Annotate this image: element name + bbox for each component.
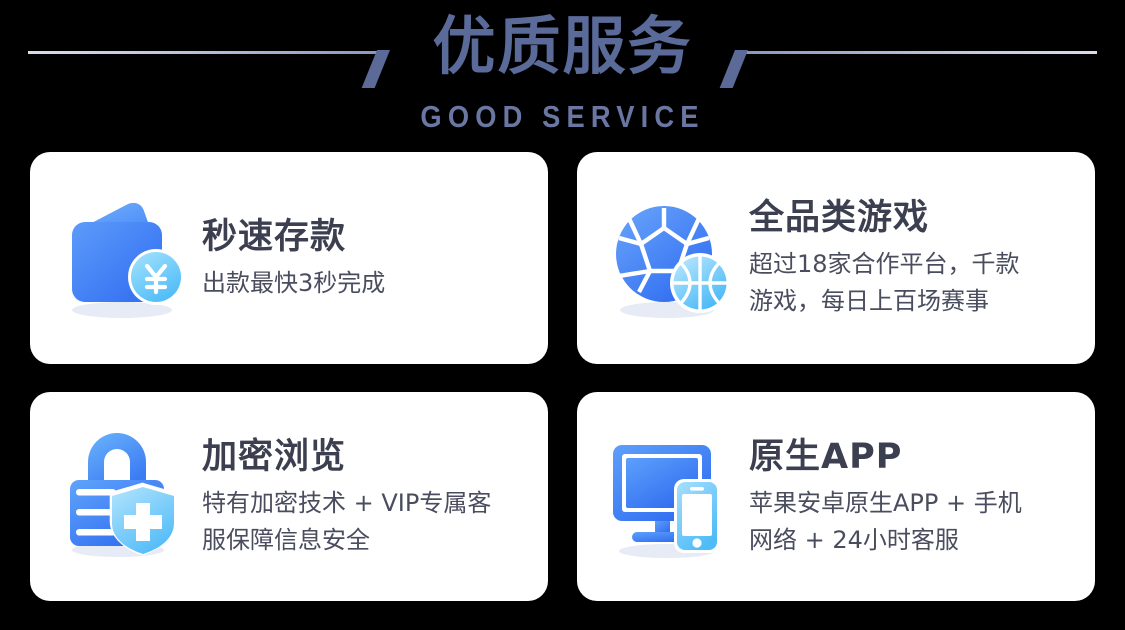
card-title: 原生APP — [749, 435, 1095, 479]
wallet-yuan-icon — [58, 192, 190, 324]
card-text-encryption: 加密浏览 特有加密技术 + VIP专属客 服保障信息安全 — [202, 435, 548, 559]
card-subtitle: 特有加密技术 + VIP专属客 服保障信息安全 — [202, 485, 548, 559]
card-subtitle: 苹果安卓原生APP + 手机 网络 + 24小时客服 — [749, 485, 1095, 559]
soccer-basketball-icon — [605, 192, 737, 324]
card-text-games: 全品类游戏 超过18家合作平台，千款 游戏，每日上百场赛事 — [749, 196, 1095, 320]
card-text-native-app: 原生APP 苹果安卓原生APP + 手机 网络 + 24小时客服 — [749, 435, 1095, 559]
monitor-phone-icon — [605, 431, 737, 563]
card-subtitle: 出款最快3秒完成 — [202, 265, 548, 302]
service-card-grid: 秒速存款 出款最快3秒完成 — [30, 152, 1095, 601]
card-text-deposit: 秒速存款 出款最快3秒完成 — [202, 215, 548, 302]
service-card-native-app[interactable]: 原生APP 苹果安卓原生APP + 手机 网络 + 24小时客服 — [577, 392, 1095, 601]
page-title: 优质服务 — [0, 6, 1125, 88]
service-card-games[interactable]: 全品类游戏 超过18家合作平台，千款 游戏，每日上百场赛事 — [577, 152, 1095, 364]
page-header: 优质服务 GOOD SERVICE — [0, 0, 1125, 150]
card-title: 加密浏览 — [202, 435, 548, 479]
card-title: 秒速存款 — [202, 215, 548, 259]
card-title: 全品类游戏 — [749, 196, 1095, 240]
lock-shield-icon — [58, 431, 190, 563]
service-card-encryption[interactable]: 加密浏览 特有加密技术 + VIP专属客 服保障信息安全 — [30, 392, 548, 601]
card-subtitle: 超过18家合作平台，千款 游戏，每日上百场赛事 — [749, 246, 1095, 320]
page-subtitle: GOOD SERVICE — [68, 99, 1058, 135]
service-card-deposit[interactable]: 秒速存款 出款最快3秒完成 — [30, 152, 548, 364]
